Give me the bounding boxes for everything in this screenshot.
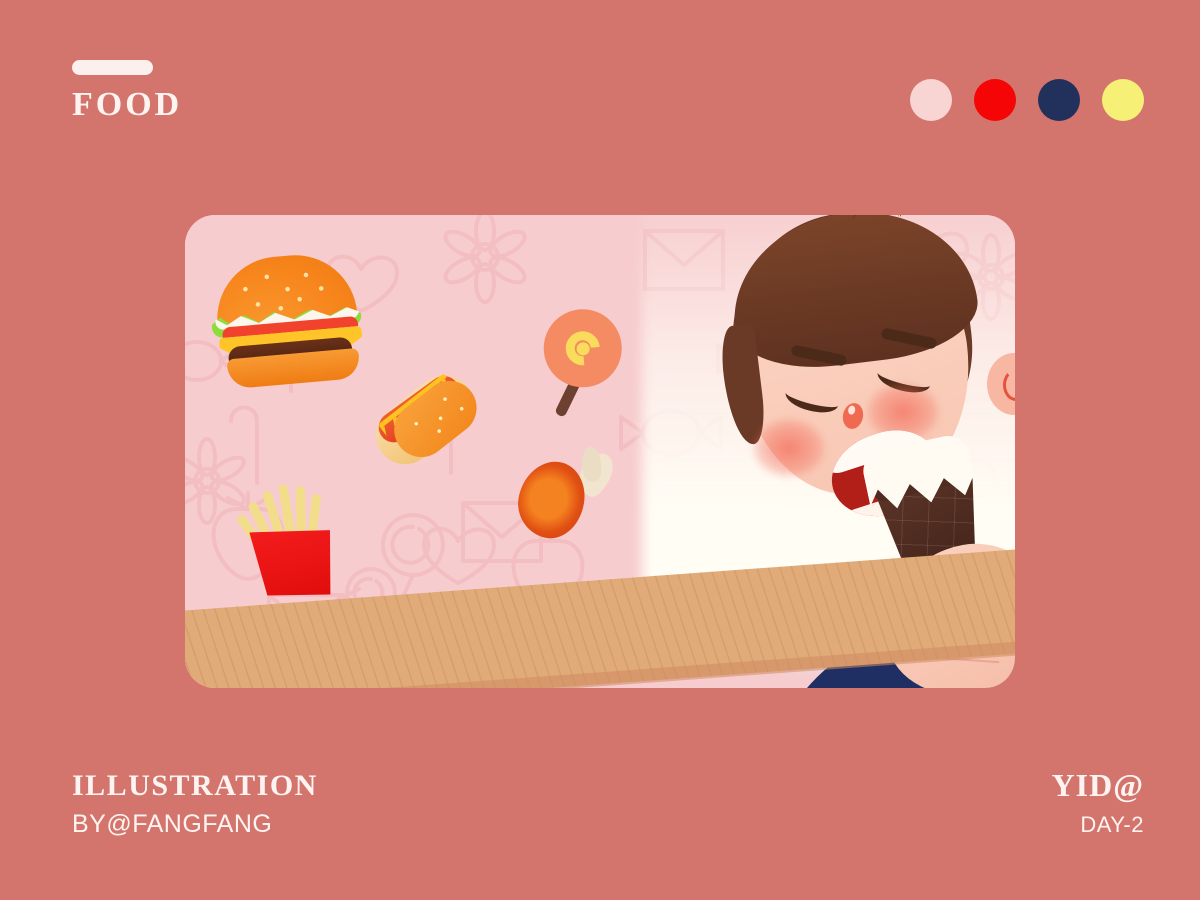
footer-title: ILLUSTRATION xyxy=(72,767,318,805)
ear xyxy=(987,353,1015,415)
chicken-bone xyxy=(581,446,602,482)
swatch-pink[interactable] xyxy=(910,79,952,121)
swatch-navy[interactable] xyxy=(1038,79,1080,121)
footer-left: ILLUSTRATION BY@FANGFANG xyxy=(72,767,318,838)
burger-illustration xyxy=(206,244,369,387)
footer-day-counter: DAY-2 xyxy=(1052,812,1144,838)
fries-box xyxy=(249,520,340,606)
illustration-card[interactable] xyxy=(185,215,1015,688)
footer-right: YID@ DAY-2 xyxy=(1052,767,1144,838)
cheek-blush-left xyxy=(751,417,827,479)
swatch-red[interactable] xyxy=(974,79,1016,121)
french-fries-illustration xyxy=(236,474,346,607)
footer-brand: YID@ xyxy=(1052,767,1144,804)
lollipop-head xyxy=(538,303,628,393)
swatch-yellow[interactable] xyxy=(1102,79,1144,121)
accent-bar xyxy=(72,60,153,75)
page-title: FOOD xyxy=(72,88,182,122)
footer-author: BY@FANGFANG xyxy=(72,811,318,839)
color-swatch-row xyxy=(910,79,1144,121)
